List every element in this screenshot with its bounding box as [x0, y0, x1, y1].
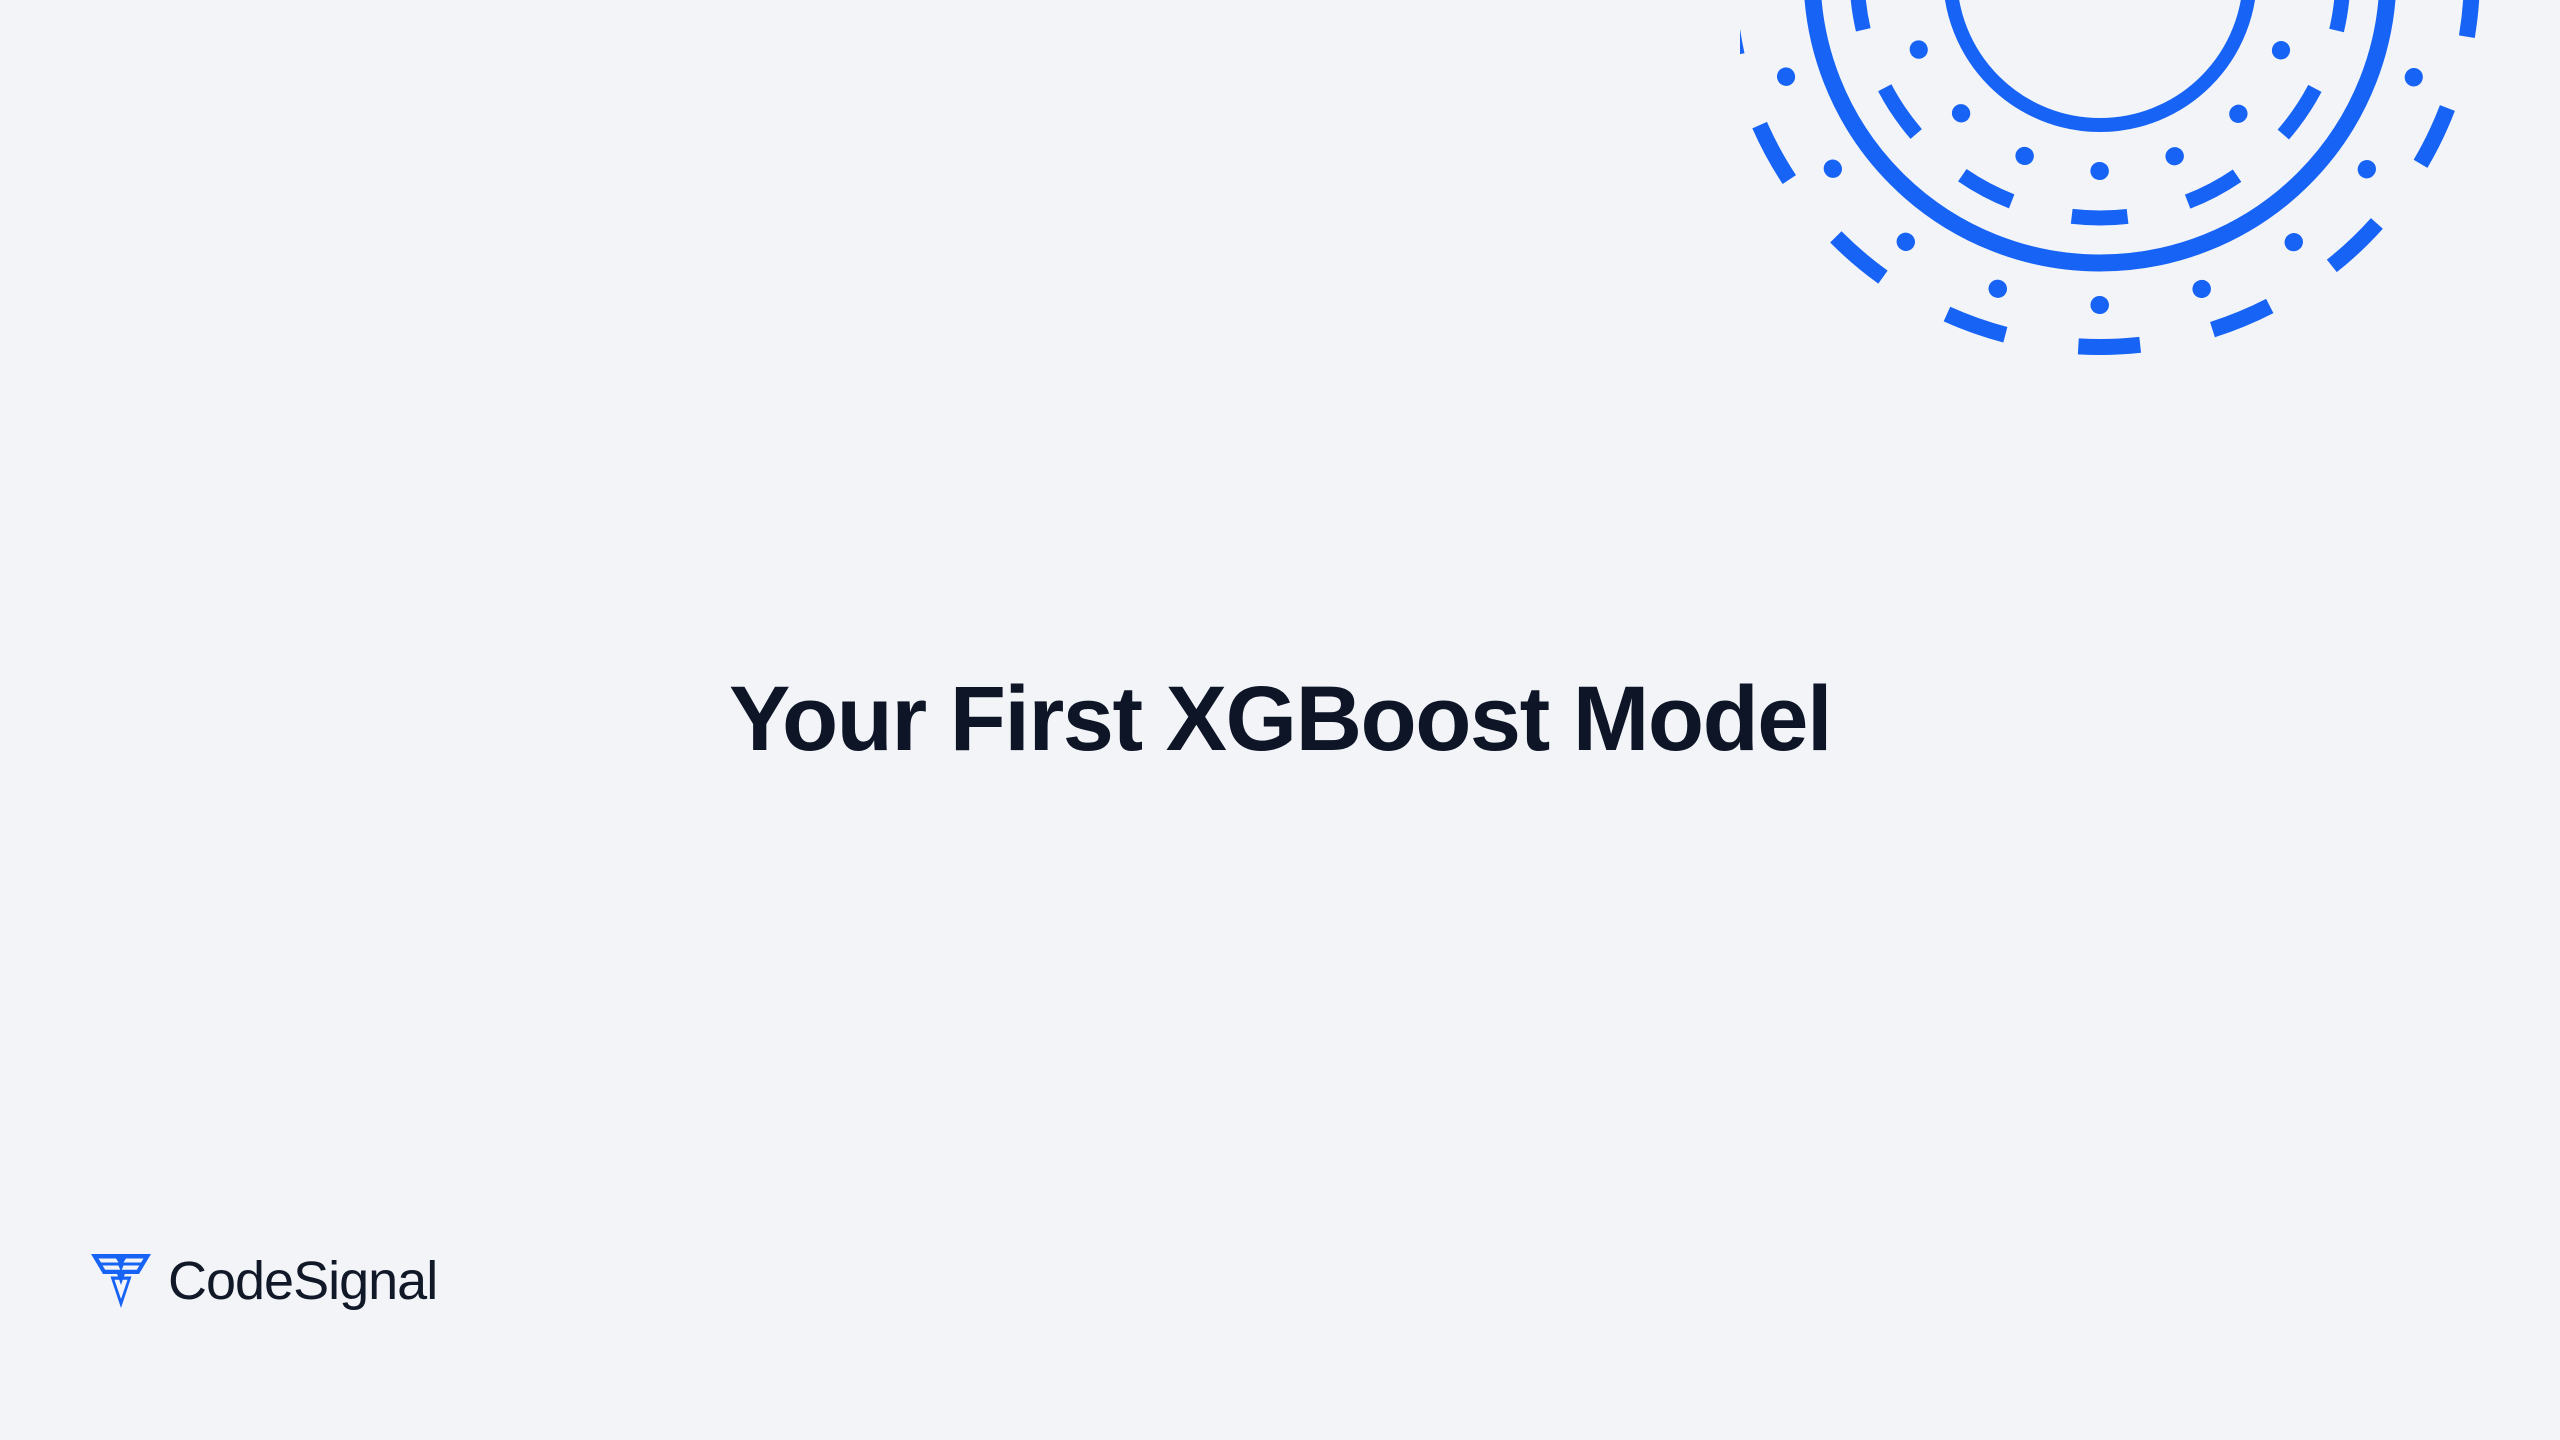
page-title: Your First XGBoost Model	[729, 669, 1831, 770]
codesignal-logo-mark-icon	[90, 1252, 152, 1310]
slide-root: Your First XGBoost Model CodeSignal	[0, 0, 2560, 1440]
codesignal-logo: CodeSignal	[90, 1252, 437, 1310]
brand-name: CodeSignal	[168, 1254, 437, 1308]
title-container: Your First XGBoost Model	[0, 0, 2560, 1440]
